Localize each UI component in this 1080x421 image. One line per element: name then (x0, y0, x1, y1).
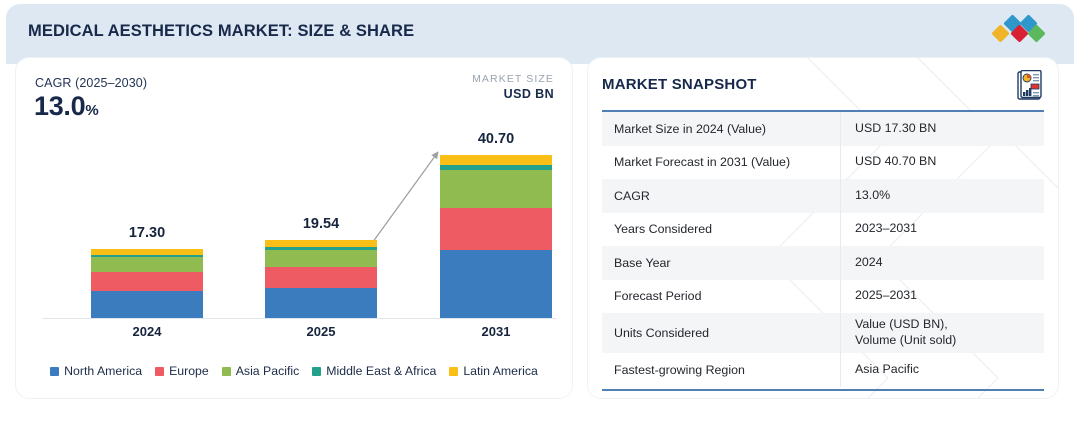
legend-item-middle-east-africa[interactable]: Middle East & Africa (312, 364, 436, 378)
report-chart-icon (1014, 70, 1044, 102)
bar-2024 (91, 249, 203, 318)
table-row: Years Considered2023–2031 (602, 213, 1044, 247)
bar-segment-latin-america (440, 155, 552, 165)
legend-swatch-icon (312, 367, 321, 376)
column-divider (840, 179, 841, 213)
legend-label: Europe (169, 364, 209, 378)
snapshot-row-value: 2024 (842, 255, 1044, 271)
market-snapshot-card: MARKET SNAPSHOT Market Size in 2024 (Val… (588, 58, 1058, 398)
snapshot-title: MARKET SNAPSHOT (602, 76, 757, 93)
snapshot-row-key: Units Considered (602, 326, 842, 340)
snapshot-row-key: Base Year (602, 256, 842, 270)
bar-segment-europe (91, 272, 203, 291)
column-divider (840, 280, 841, 314)
market-research-logo (992, 14, 1054, 44)
table-row: Fastest-growing RegionAsia Pacific (602, 353, 1044, 387)
snapshot-row-value: 2025–2031 (842, 288, 1044, 304)
legend-label: Asia Pacific (236, 364, 300, 378)
bar-total-label-2031: 40.70 (416, 131, 576, 147)
snapshot-value-line: 2024 (855, 255, 1044, 271)
column-divider (840, 112, 841, 146)
snapshot-row-key: Years Considered (602, 222, 842, 236)
snapshot-value-line: Value (USD BN), (855, 317, 1044, 333)
bar-segment-north-america (265, 288, 377, 318)
legend-label: Latin America (463, 364, 538, 378)
table-row: Forecast Period2025–2031 (602, 280, 1044, 314)
bar-segment-north-america (440, 250, 552, 318)
bar-segment-europe (440, 208, 552, 250)
snapshot-row-key: Forecast Period (602, 289, 842, 303)
snapshot-row-key: CAGR (602, 189, 842, 203)
snapshot-row-key: Market Size in 2024 (Value) (602, 122, 842, 136)
column-divider (840, 313, 841, 353)
snapshot-value-line: USD 40.70 BN (855, 154, 1044, 170)
snapshot-row-value: Asia Pacific (842, 362, 1044, 378)
bar-2031 (440, 155, 552, 318)
infographic-page: MEDICAL AESTHETICS MARKET: SIZE & SHARE … (0, 0, 1080, 421)
table-row: Base Year2024 (602, 246, 1044, 280)
bar-segment-asia-pacific (91, 257, 203, 272)
bar-segment-asia-pacific (440, 170, 552, 208)
page-title: MEDICAL AESTHETICS MARKET: SIZE & SHARE (28, 22, 414, 41)
legend-swatch-icon (50, 367, 59, 376)
snapshot-value-line: Volume (Unit sold) (855, 333, 1044, 349)
snapshot-table: Market Size in 2024 (Value)USD 17.30 BNM… (602, 112, 1044, 387)
chart-card: CAGR (2025–2030) 13.0% MARKET SIZE USD B… (16, 58, 572, 398)
column-divider (840, 146, 841, 180)
bar-2025 (265, 240, 377, 318)
column-divider (840, 213, 841, 247)
x-axis-tick-2025: 2025 (241, 324, 401, 339)
legend-item-latin-america[interactable]: Latin America (449, 364, 538, 378)
bar-segment-europe (265, 267, 377, 288)
snapshot-row-key: Market Forecast in 2031 (Value) (602, 155, 842, 169)
table-row: CAGR13.0% (602, 179, 1044, 213)
bar-segment-asia-pacific (265, 250, 377, 267)
legend-label: North America (64, 364, 142, 378)
legend-item-europe[interactable]: Europe (155, 364, 209, 378)
legend-swatch-icon (155, 367, 164, 376)
snapshot-value-line: 13.0% (855, 188, 1044, 204)
chart-legend: North AmericaEuropeAsia PacificMiddle Ea… (16, 364, 572, 378)
column-divider (840, 353, 841, 387)
stacked-bar-chart: 17.30202419.54202540.702031 (16, 58, 572, 398)
snapshot-row-value: 13.0% (842, 188, 1044, 204)
legend-item-north-america[interactable]: North America (50, 364, 142, 378)
legend-label: Middle East & Africa (326, 364, 436, 378)
bar-total-label-2025: 19.54 (241, 216, 401, 232)
bar-segment-latin-america (265, 240, 377, 247)
table-row: Market Forecast in 2031 (Value)USD 40.70… (602, 146, 1044, 180)
snapshot-row-value: 2023–2031 (842, 221, 1044, 237)
snapshot-value-line: Asia Pacific (855, 362, 1044, 378)
snapshot-row-value: USD 40.70 BN (842, 154, 1044, 170)
snapshot-row-value: Value (USD BN),Volume (Unit sold) (842, 317, 1044, 349)
bar-segment-north-america (91, 291, 203, 318)
legend-item-asia-pacific[interactable]: Asia Pacific (222, 364, 300, 378)
legend-swatch-icon (222, 367, 231, 376)
bar-total-label-2024: 17.30 (67, 225, 227, 241)
snapshot-value-line: 2025–2031 (855, 288, 1044, 304)
x-axis-tick-2031: 2031 (416, 324, 576, 339)
legend-swatch-icon (449, 367, 458, 376)
table-row: Units ConsideredValue (USD BN),Volume (U… (602, 313, 1044, 353)
column-divider (840, 246, 841, 280)
snapshot-value-line: USD 17.30 BN (855, 121, 1044, 137)
snapshot-row-key: Fastest-growing Region (602, 363, 842, 377)
snapshot-row-value: USD 17.30 BN (842, 121, 1044, 137)
table-row: Market Size in 2024 (Value)USD 17.30 BN (602, 112, 1044, 146)
snapshot-value-line: 2023–2031 (855, 221, 1044, 237)
x-axis-tick-2024: 2024 (67, 324, 227, 339)
snapshot-bottom-rule (602, 389, 1044, 391)
